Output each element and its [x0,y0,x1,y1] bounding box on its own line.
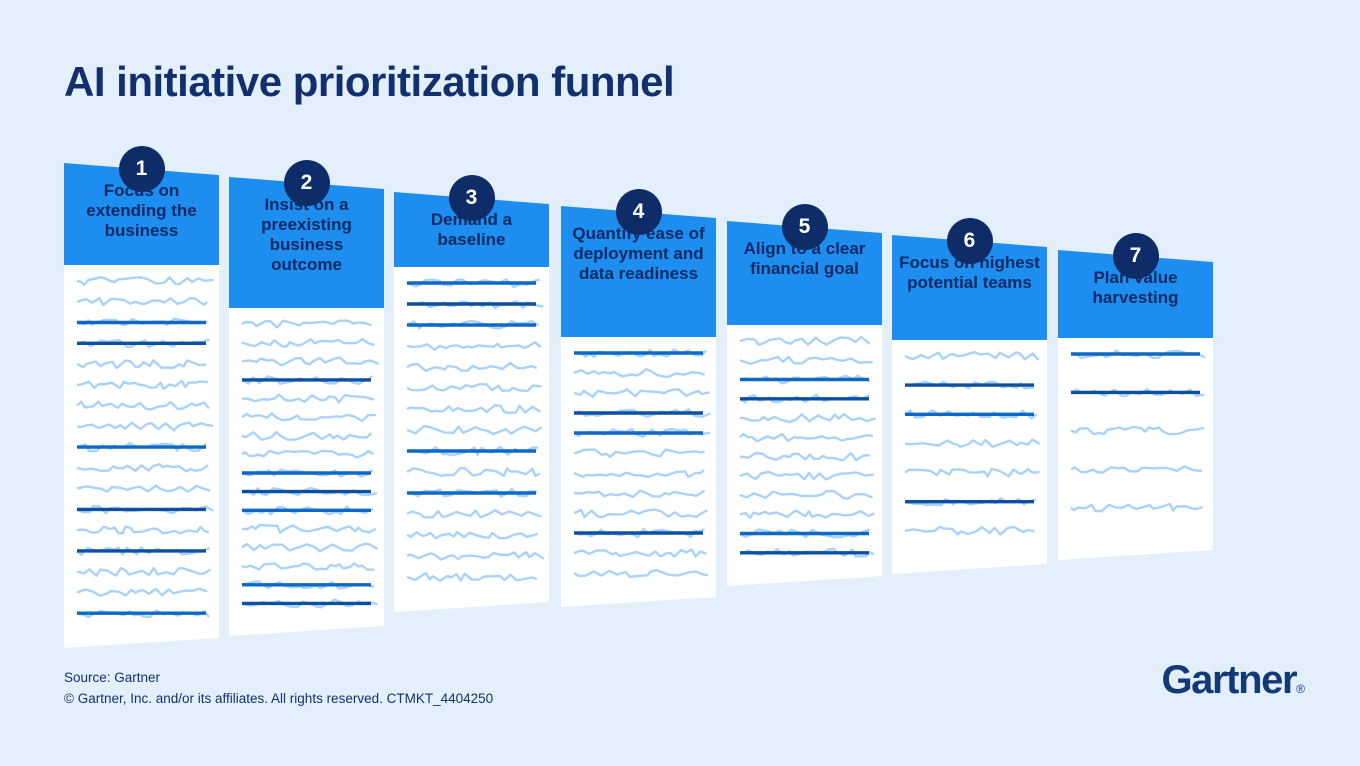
funnel-card-2[interactable]: Insist on a preexisting business outcome [229,177,384,636]
funnel-card-6[interactable]: Focus on highest potential teams [892,235,1047,574]
source-line: Source: Gartner [64,668,493,689]
gartner-logo: Gartner® [1161,658,1305,703]
footer-attribution: Source: Gartner © Gartner, Inc. and/or i… [64,668,493,710]
step-badge-6[interactable]: 6 [947,218,993,264]
funnel-card-1[interactable]: Focus on extending the business [64,163,219,648]
funnel-card-7[interactable]: Plan value harvesting [1058,250,1213,560]
card-surface [394,192,549,612]
step-badge-4[interactable]: 4 [616,189,662,235]
funnel-card-3[interactable]: Demand a baseline [394,192,549,612]
step-badge-3[interactable]: 3 [449,175,495,221]
card-title-2: Insist on a preexisting business outcome [229,195,384,275]
gartner-wordmark: Gartner [1161,658,1296,702]
step-badge-2[interactable]: 2 [284,160,330,206]
funnel-diagram: Focus on extending the businessInsist on… [0,0,1360,766]
step-badge-7[interactable]: 7 [1113,233,1159,279]
registered-trademark-icon: ® [1296,682,1305,696]
step-badge-1[interactable]: 1 [119,146,165,192]
funnel-card-5[interactable]: Align to a clear financial goal [727,221,882,586]
step-badge-5[interactable]: 5 [782,204,828,250]
funnel-card-4[interactable]: Quantify ease of deployment and data rea… [561,206,716,607]
page-title: AI initiative prioritization funnel [64,58,674,106]
copyright-line: © Gartner, Inc. and/or its affiliates. A… [64,689,493,710]
